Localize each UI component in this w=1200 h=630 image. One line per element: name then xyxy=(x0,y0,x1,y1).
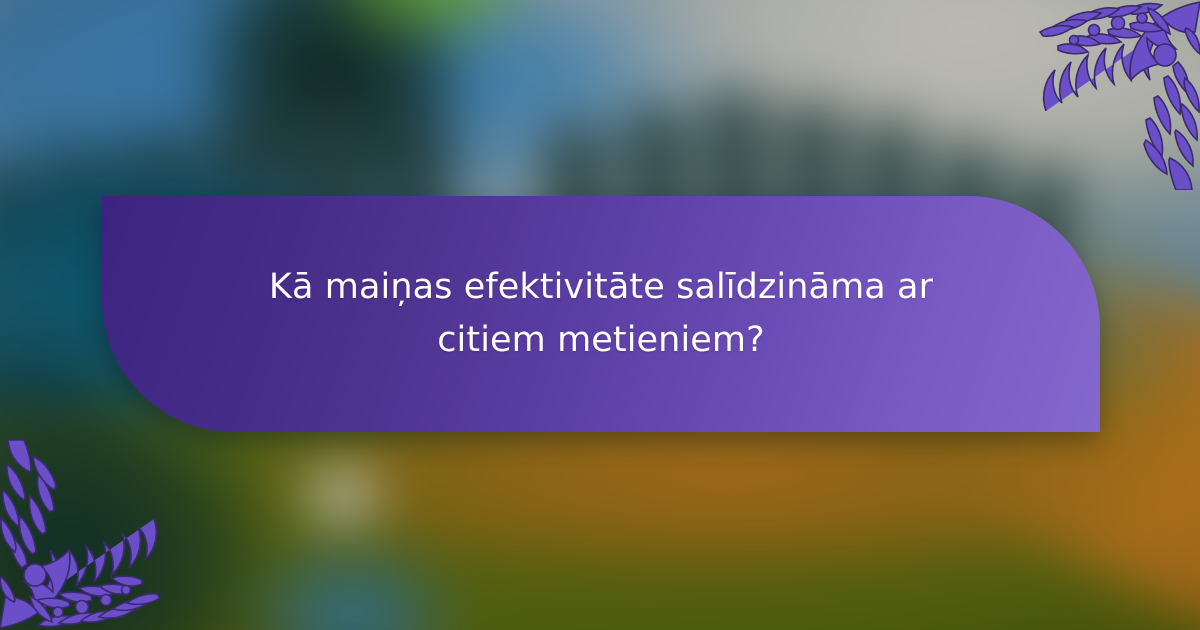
page-title: Kā maiņas efektivitāte salīdzināma ar ci… xyxy=(221,261,981,367)
social-card-canvas: Kā maiņas efektivitāte salīdzināma ar ci… xyxy=(0,0,1200,630)
headline-card: Kā maiņas efektivitāte salīdzināma ar ci… xyxy=(102,196,1100,432)
